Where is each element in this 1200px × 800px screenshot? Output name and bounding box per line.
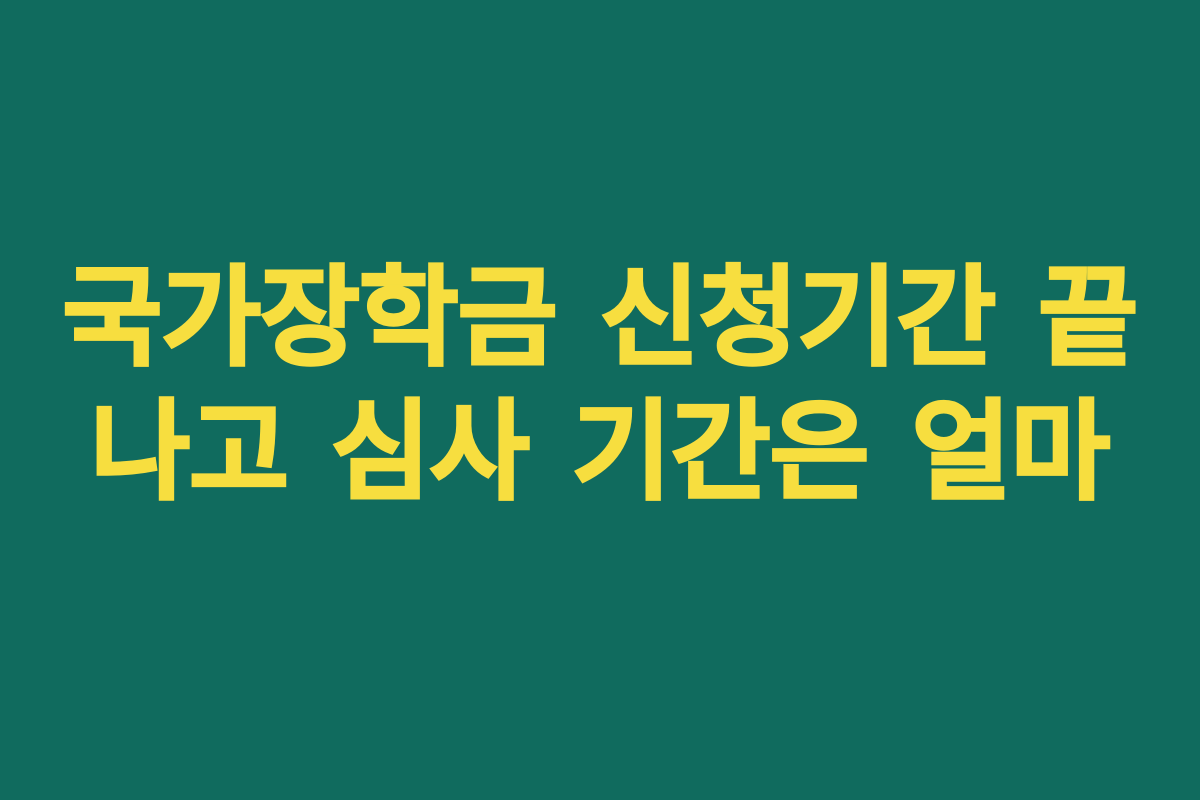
headline-block: 국가장학금 신청기간 끝 나고 심사 기간은 얼마 xyxy=(0,252,1200,520)
headline-line-1: 국가장학금 신청기간 끝 xyxy=(0,252,1200,386)
thumbnail-canvas: 국가장학금 신청기간 끝 나고 심사 기간은 얼마 xyxy=(0,0,1200,800)
headline-line-2: 나고 심사 기간은 얼마 xyxy=(0,386,1200,520)
